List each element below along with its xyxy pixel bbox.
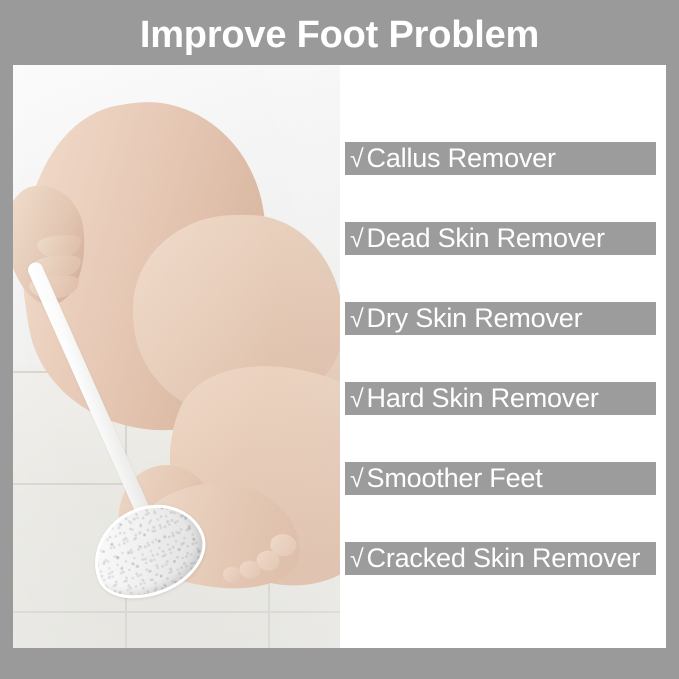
feature-item-label: √Dry Skin Remover <box>350 299 582 339</box>
check-icon: √ <box>350 465 367 493</box>
feature-item-label: √Callus Remover <box>350 139 556 179</box>
feature-text: Hard Skin Remover <box>367 383 599 413</box>
feature-item-label: √Dead Skin Remover <box>350 219 605 259</box>
feature-item-label: √Smoother Feet <box>350 459 543 499</box>
feature-item-dry-skin-remover[interactable]: √Dry Skin Remover <box>345 302 656 335</box>
feature-item-callus-remover[interactable]: √Callus Remover <box>345 142 656 175</box>
feature-item-smoother-feet[interactable]: √Smoother Feet <box>345 462 656 495</box>
feature-item-label: √Hard Skin Remover <box>350 379 599 419</box>
page-title: Improve Foot Problem <box>0 13 679 57</box>
check-icon: √ <box>350 225 367 253</box>
feature-item-cracked-skin-remover[interactable]: √Cracked Skin Remover <box>345 542 656 575</box>
product-photo <box>13 65 340 648</box>
feature-text: Callus Remover <box>367 143 556 173</box>
feature-text: Smoother Feet <box>367 463 543 493</box>
tile-grout-line <box>13 611 340 613</box>
feature-item-hard-skin-remover[interactable]: √Hard Skin Remover <box>345 382 656 415</box>
feature-item-label: √Cracked Skin Remover <box>350 539 640 579</box>
feature-item-dead-skin-remover[interactable]: √Dead Skin Remover <box>345 222 656 255</box>
content-block: √Callus Remover √Dead Skin Remover √Dry … <box>13 65 666 648</box>
product-feature-infographic: Improve Foot Problem <box>0 0 679 679</box>
feature-text: Cracked Skin Remover <box>367 543 641 573</box>
check-icon: √ <box>350 385 367 413</box>
feature-text: Dead Skin Remover <box>367 223 605 253</box>
check-icon: √ <box>350 305 367 333</box>
feature-text: Dry Skin Remover <box>367 303 583 333</box>
check-icon: √ <box>350 145 367 173</box>
check-icon: √ <box>350 545 367 573</box>
feature-list: √Callus Remover √Dead Skin Remover √Dry … <box>340 65 666 648</box>
